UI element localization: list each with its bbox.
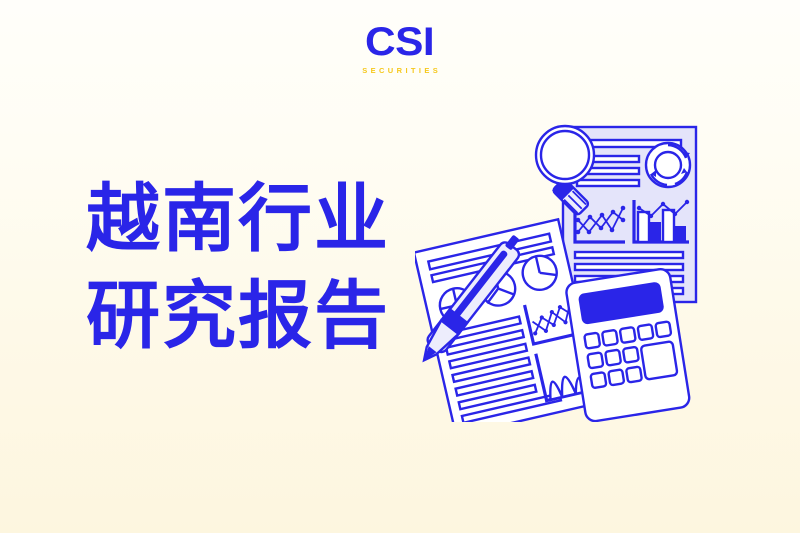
back-document-donut-chart — [646, 143, 690, 187]
page-title-line-2: 研究报告 — [86, 268, 416, 365]
brand-wordmark: CSI — [365, 22, 434, 62]
page-title: 越南行业 研究报告 — [86, 171, 416, 365]
brand-tagline: SECURITIES — [359, 67, 441, 75]
brand-logo: CSI SECURITIES — [0, 22, 800, 75]
magnifier-icon — [536, 126, 594, 216]
research-report-illustration: .bl { stroke:#2A25E8; fill:none; } .s2 {… — [415, 112, 715, 422]
page-title-line-1: 越南行业 — [86, 171, 416, 268]
calculator-icon — [565, 268, 691, 422]
